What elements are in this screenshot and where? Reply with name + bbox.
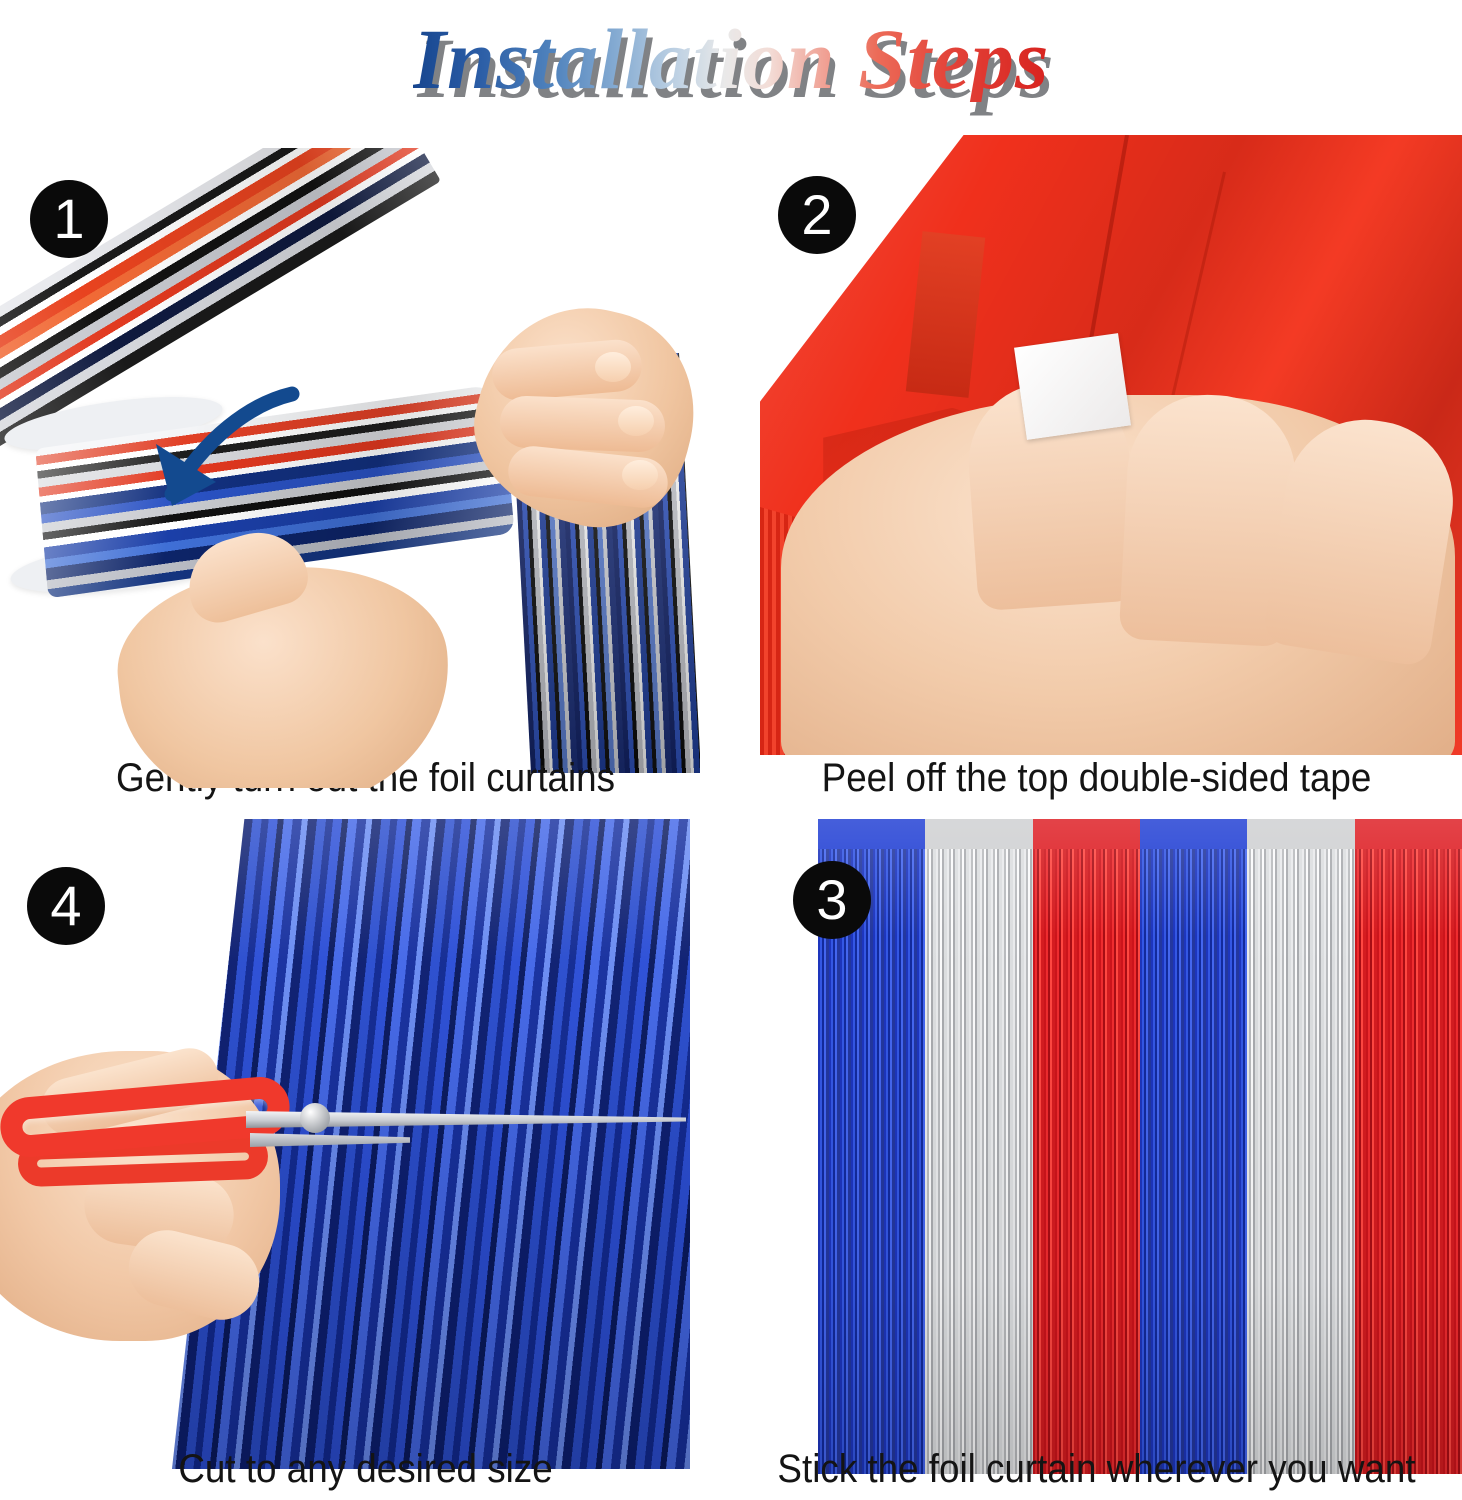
step-caption-4: Cut to any desired size [29, 1447, 702, 1492]
fingernail-index [595, 352, 631, 382]
panel-fringe [1355, 849, 1462, 1474]
panel-fringe [1140, 849, 1247, 1474]
panel-fringe [1247, 849, 1354, 1474]
steps-grid: 1 Gently turn out the foil curtains 2 Pe… [0, 118, 1462, 1500]
fingernail-ring [622, 460, 658, 490]
step-badge-2: 2 [778, 176, 856, 254]
curtain-panels [818, 819, 1462, 1474]
step-3-photo [818, 819, 1462, 1474]
panel-fringe [925, 849, 1032, 1474]
curtain-panel-red-1 [1033, 819, 1140, 1474]
curtain-panel-silver-2 [1247, 819, 1354, 1474]
step-caption-2: Peel off the top double-sided tape [760, 756, 1433, 801]
page-title: Installation Steps Installation Steps [413, 16, 1050, 102]
curtain-panel-silver-1 [925, 819, 1032, 1474]
page-title-text: Installation Steps [413, 16, 1050, 102]
step-badge-4: 4 [27, 867, 105, 945]
step-card-1: 1 Gently turn out the foil curtains [0, 118, 731, 809]
step-card-2: 2 Peel off the top double-sided tape [731, 118, 1462, 809]
step-card-3: 3 Stick the foil curtain wherever you wa… [731, 809, 1462, 1500]
double-sided-tape-strip [1014, 333, 1131, 440]
fingernail-middle [618, 406, 654, 436]
step-2-photo [760, 135, 1462, 755]
step-caption-3: Stick the foil curtain wherever you want [760, 1447, 1433, 1492]
panel-fringe [818, 849, 925, 1474]
panel-fringe [1033, 849, 1140, 1474]
curtain-panel-blue-2 [1140, 819, 1247, 1474]
step-badge-3: 3 [793, 861, 871, 939]
curtain-panel-red-2 [1355, 819, 1462, 1474]
page-title-bar: Installation Steps Installation Steps [0, 0, 1462, 118]
curved-arrow-down-left-icon [110, 386, 300, 536]
step-card-4: 4 Cut to any desired size [0, 809, 731, 1500]
scissors-pivot-screw [300, 1103, 330, 1133]
step-badge-1: 1 [30, 180, 108, 258]
step-1-photo [0, 148, 700, 788]
